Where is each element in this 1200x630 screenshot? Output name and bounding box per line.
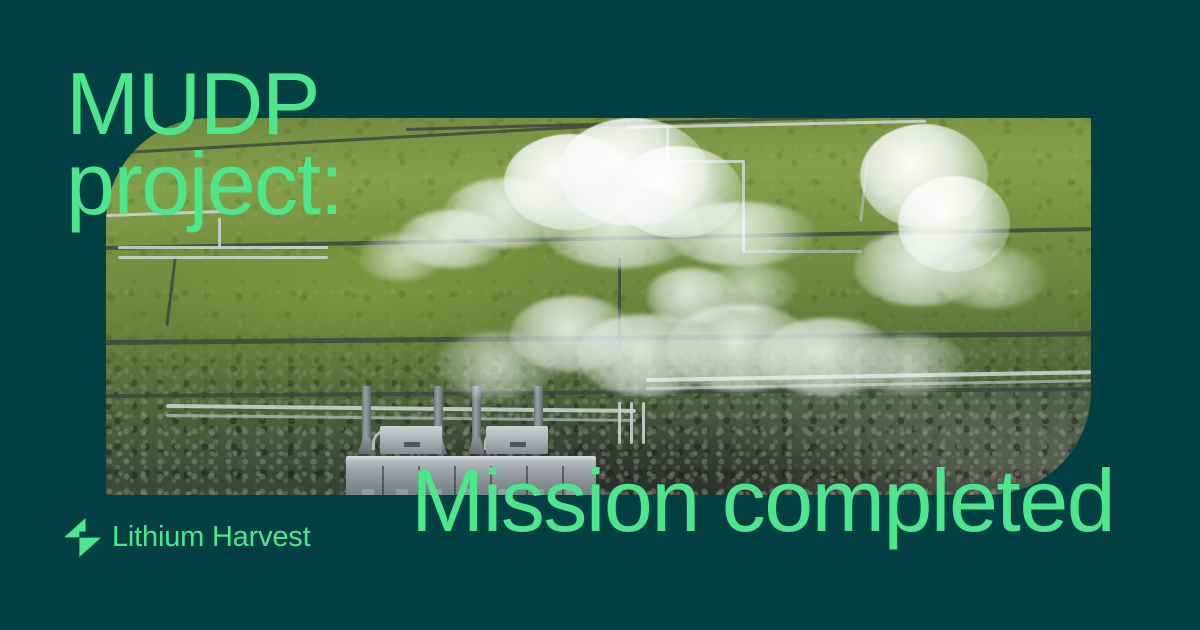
pipeline-left-loop-b xyxy=(118,256,328,259)
hall-bay-divider xyxy=(382,466,384,495)
pipeline-left-loop-a xyxy=(118,246,328,249)
pipeline-bottom-elbow-a xyxy=(618,402,621,444)
turbine-unit-b-window xyxy=(510,442,526,447)
pipeline-mid-vertical xyxy=(742,160,745,252)
promo-card: MUDP project: Mission completed Lithium … xyxy=(0,0,1200,630)
turbine-unit-b xyxy=(486,426,548,454)
condenser-unit xyxy=(362,489,374,495)
brand-name: Lithium Harvest xyxy=(112,523,310,552)
pipeline-mid-horizontal xyxy=(742,250,862,253)
pipeline-top-step xyxy=(666,160,744,163)
status-headline: Mission completed xyxy=(411,457,1114,545)
pipeline-top-vertical xyxy=(666,126,669,162)
turbine-unit-a xyxy=(380,426,442,454)
steam-stack-3 xyxy=(472,386,481,442)
pipeline-bottom-elbow-c xyxy=(642,402,645,444)
turbine-unit-a-window xyxy=(404,442,420,447)
condenser-unit xyxy=(396,489,408,495)
road-right-branch xyxy=(618,258,621,350)
brand-logo[interactable]: Lithium Harvest xyxy=(64,518,310,557)
pipeline-bottom-elbow-b xyxy=(630,402,633,444)
page-title: MUDP project: xyxy=(66,64,343,224)
steam-stack-1 xyxy=(362,386,371,442)
lightning-bolt-icon xyxy=(64,518,101,557)
